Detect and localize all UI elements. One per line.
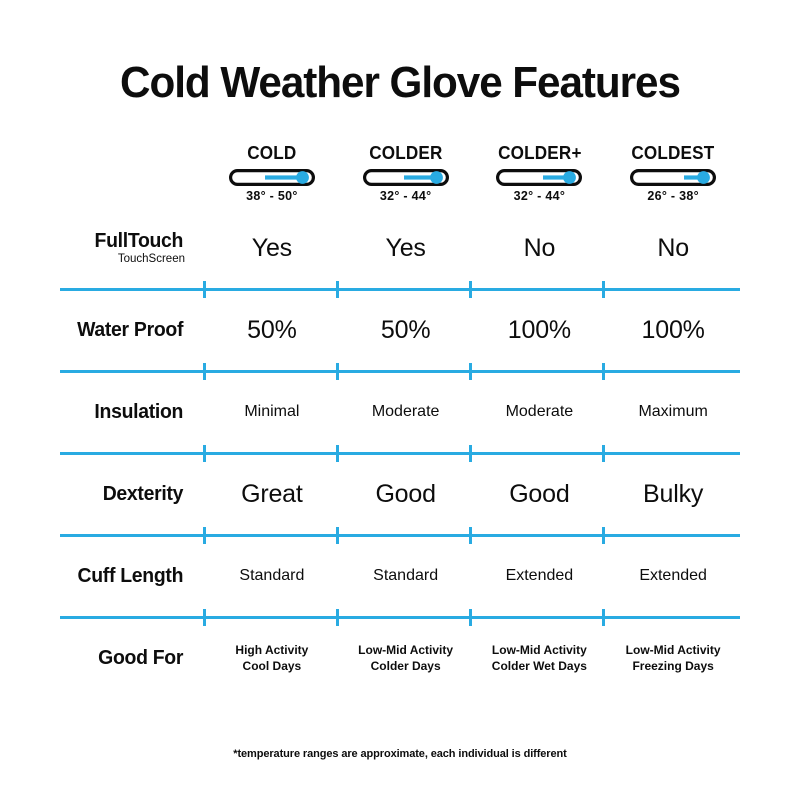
divider-tick — [602, 609, 605, 626]
row-label: FullTouch — [62, 231, 183, 252]
divider-tick — [203, 445, 206, 462]
cell-value: 100% — [606, 316, 740, 345]
table-row: FullTouch TouchScreen Yes Yes No No — [60, 218, 740, 278]
thermometer-icon — [496, 169, 582, 186]
divider-tick — [336, 609, 339, 626]
cell-value: Minimal — [205, 403, 339, 421]
column-name: COLD — [208, 144, 335, 164]
row-divider — [60, 278, 740, 300]
divider-tick — [469, 363, 472, 380]
column-header-cold: COLD 38° - 50° — [205, 140, 339, 203]
column-header-colder-plus: COLDER+ 32° - 44° — [473, 140, 607, 203]
cell-value-line2: Cool Days — [205, 658, 339, 674]
row-divider — [60, 606, 740, 628]
cell-value-line1: Low-Mid Activity — [473, 642, 607, 658]
divider-tick — [469, 445, 472, 462]
cell-value: Good — [339, 480, 473, 509]
table-header-row: COLD 38° - 50° COLDER — [60, 140, 740, 218]
cell-value: No — [606, 234, 740, 263]
cell-value-line2: Colder Wet Days — [473, 658, 607, 674]
cell-value: Yes — [339, 234, 473, 263]
row-label-cell: Insulation — [60, 402, 205, 423]
cell-value: Moderate — [339, 403, 473, 421]
table-row: Insulation Minimal Moderate Moderate Max… — [60, 382, 740, 442]
table-row: Good For High Activity Cool Days Low-Mid… — [60, 628, 740, 688]
cell-value: Low-Mid Activity Colder Wet Days — [473, 642, 607, 674]
row-divider — [60, 442, 740, 464]
thermometer-icon — [229, 169, 315, 186]
divider-line — [60, 616, 740, 619]
divider-tick — [602, 281, 605, 298]
row-sublabel: TouchScreen — [60, 253, 185, 265]
page-title: Cold Weather Glove Features — [16, 58, 784, 108]
row-label: Insulation — [62, 402, 183, 423]
row-label: Good For — [62, 648, 183, 669]
table-row: Water Proof 50% 50% 100% 100% — [60, 300, 740, 360]
cell-value: 50% — [339, 316, 473, 345]
cell-value-line2: Freezing Days — [606, 658, 740, 674]
divider-tick — [469, 527, 472, 544]
column-header-coldest: COLDEST 26° - 38° — [606, 140, 740, 203]
divider-tick — [203, 609, 206, 626]
thermometer-icon — [630, 169, 716, 186]
row-label: Dexterity — [62, 484, 183, 505]
cell-value: Extended — [606, 567, 740, 585]
column-temp-range: 32° - 44° — [339, 189, 473, 203]
divider-tick — [336, 527, 339, 544]
divider-tick — [203, 363, 206, 380]
cell-value: 100% — [473, 316, 607, 345]
cell-value: Low-Mid Activity Colder Days — [339, 642, 473, 674]
row-label-cell: Water Proof — [60, 320, 205, 341]
column-name: COLDEST — [610, 144, 737, 164]
divider-tick — [469, 281, 472, 298]
divider-line — [60, 534, 740, 537]
cell-value-line2: Colder Days — [339, 658, 473, 674]
table-row: Cuff Length Standard Standard Extended E… — [60, 546, 740, 606]
divider-tick — [336, 363, 339, 380]
row-label-cell: Good For — [60, 648, 205, 669]
column-temp-range: 38° - 50° — [205, 189, 339, 203]
divider-line — [60, 370, 740, 373]
divider-tick — [602, 363, 605, 380]
cell-value: Low-Mid Activity Freezing Days — [606, 642, 740, 674]
divider-tick — [602, 445, 605, 462]
row-divider — [60, 360, 740, 382]
row-divider — [60, 524, 740, 546]
divider-line — [60, 288, 740, 291]
cell-value: Maximum — [606, 403, 740, 421]
column-temp-range: 26° - 38° — [606, 189, 740, 203]
divider-tick — [336, 281, 339, 298]
cell-value: 50% — [205, 316, 339, 345]
cell-value: Moderate — [473, 403, 607, 421]
divider-tick — [336, 445, 339, 462]
column-temp-range: 32° - 44° — [473, 189, 607, 203]
table-row: Dexterity Great Good Good Bulky — [60, 464, 740, 524]
divider-tick — [203, 281, 206, 298]
row-label: Cuff Length — [62, 566, 183, 587]
cell-value: Yes — [205, 234, 339, 263]
cell-value: Standard — [205, 567, 339, 585]
cell-value: Extended — [473, 567, 607, 585]
cell-value-line1: Low-Mid Activity — [606, 642, 740, 658]
row-label: Water Proof — [62, 320, 183, 341]
divider-line — [60, 452, 740, 455]
cell-value: Standard — [339, 567, 473, 585]
row-label-cell: FullTouch TouchScreen — [60, 231, 205, 265]
cell-value-line1: High Activity — [205, 642, 339, 658]
divider-tick — [602, 527, 605, 544]
thermometer-icon — [363, 169, 449, 186]
cell-value-line1: Low-Mid Activity — [339, 642, 473, 658]
column-header-colder: COLDER 32° - 44° — [339, 140, 473, 203]
footnote: *temperature ranges are approximate, eac… — [0, 748, 800, 760]
column-name: COLDER — [342, 144, 469, 164]
cell-value: Good — [473, 480, 607, 509]
row-label-cell: Cuff Length — [60, 566, 205, 587]
glove-features-infographic: Cold Weather Glove Features COLD 38° - 5… — [0, 0, 800, 800]
cell-value: No — [473, 234, 607, 263]
features-table: COLD 38° - 50° COLDER — [60, 140, 740, 688]
cell-value: Bulky — [606, 480, 740, 509]
divider-tick — [203, 527, 206, 544]
row-label-cell: Dexterity — [60, 484, 205, 505]
cell-value: High Activity Cool Days — [205, 642, 339, 674]
column-name: COLDER+ — [476, 144, 603, 164]
divider-tick — [469, 609, 472, 626]
cell-value: Great — [205, 480, 339, 509]
